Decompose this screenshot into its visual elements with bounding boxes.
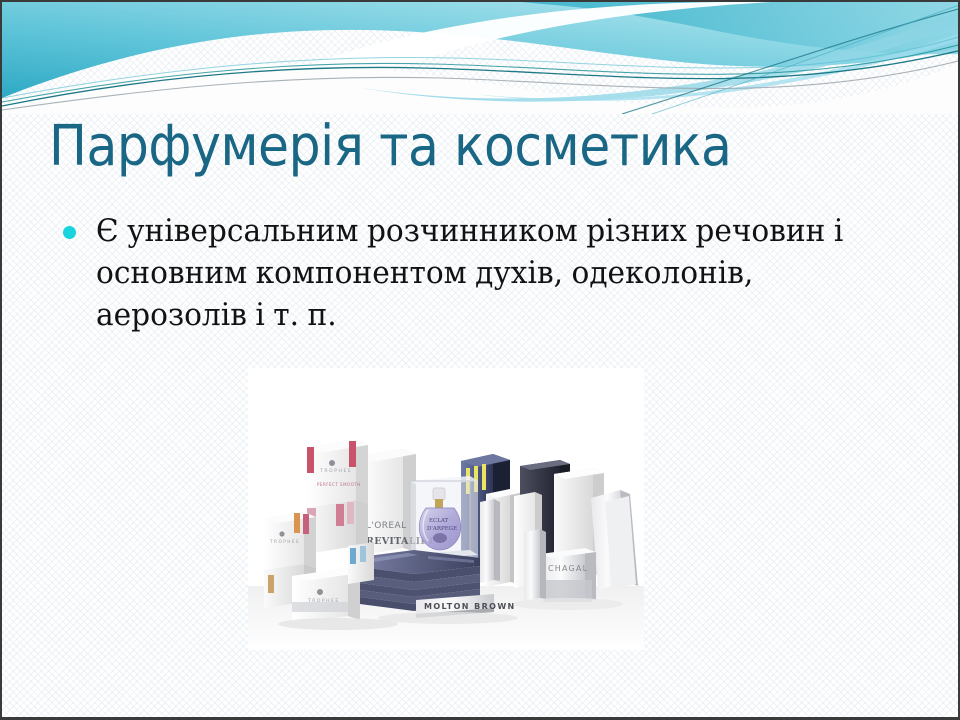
product-box-blue-accent <box>348 542 374 584</box>
list-item: Є універсальним розчинником різних речов… <box>56 210 892 336</box>
bullet-text: Є універсальним розчинником різних речов… <box>96 210 856 336</box>
svg-text:TROPHEE: TROPHEE <box>269 539 300 544</box>
product-box-stack-left-top: TROPHEE PERFECT SMOOTH <box>307 440 368 508</box>
product-box-narrow-silver <box>524 529 546 601</box>
svg-text:MOLTON BROWN: MOLTON BROWN <box>424 602 516 611</box>
product-box-thin-silver <box>480 499 500 583</box>
photo-illustration: L'OREAL REVITALIFT <box>248 368 644 650</box>
svg-text:TROPHEE: TROPHEE <box>319 468 352 474</box>
page-title: Парфумерія та косметика <box>49 118 832 177</box>
svg-text:D'ARPEGE: D'ARPEGE <box>427 526 457 532</box>
slide-body-list: Є універсальним розчинником різних речов… <box>56 210 892 336</box>
svg-text:PERFECT SMOOTH: PERFECT SMOOTH <box>317 482 361 487</box>
product-box-chagal: CHAGAL <box>541 548 596 604</box>
perfume-cosmetics-photo: L'OREAL REVITALIFT <box>248 368 644 650</box>
svg-text:L'OREAL: L'OREAL <box>366 521 406 531</box>
presentation-slide: Парфумерія та косметика Є універсальним … <box>0 0 960 720</box>
decorative-wave-banner <box>2 2 960 114</box>
product-box-midleft: TROPHEE <box>264 512 316 570</box>
svg-text:ECLAT: ECLAT <box>429 518 449 524</box>
bullet-dot-icon <box>63 226 76 239</box>
svg-text:CHAGAL: CHAGAL <box>548 564 588 573</box>
